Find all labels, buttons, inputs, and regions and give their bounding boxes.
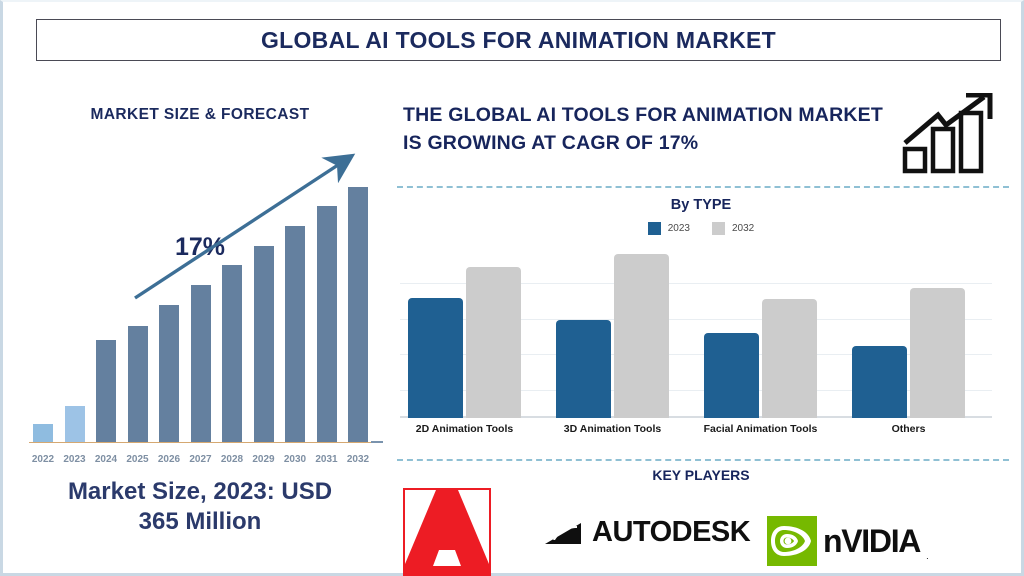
market-size-year-2024: 2024 <box>91 454 121 465</box>
market-size-footer-line1: Market Size, 2023: USD <box>9 477 391 507</box>
market-size-bar-2029 <box>254 246 274 442</box>
market-size-year-labels: 2022202320242025202620272028202920302031… <box>23 454 383 470</box>
cagr-headline: THE GLOBAL AI TOOLS FOR ANIMATION MARKET… <box>403 102 895 157</box>
market-size-year-2028: 2028 <box>217 454 247 465</box>
divider-top <box>397 186 1009 188</box>
market-size-bar-2028 <box>222 265 242 442</box>
legend-item-2032: 2032 <box>712 222 754 235</box>
bytype-label-3d-animation-tools: 3D Animation Tools <box>544 423 681 435</box>
bytype-label-2d-animation-tools: 2D Animation Tools <box>396 423 533 435</box>
market-size-year-2032: 2032 <box>343 454 373 465</box>
market-size-footer-line2: 365 Million <box>9 507 391 537</box>
legend-item-2023: 2023 <box>648 222 690 235</box>
bytype-bar-2023-3d-animation-tools <box>556 320 611 418</box>
bytype-bar-2032-others <box>910 288 965 418</box>
bytype-bar-2023-others <box>852 346 907 418</box>
bytype-bar-2032-2d-animation-tools <box>466 267 521 418</box>
market-size-year-2030: 2030 <box>280 454 310 465</box>
market-size-bar-2031 <box>317 206 337 442</box>
market-size-bars <box>23 152 383 442</box>
autodesk-logo: AUTODESK <box>543 516 750 549</box>
bytype-legend: 2023 2032 <box>395 222 1007 235</box>
market-size-bar-2022 <box>33 424 53 442</box>
cagr-annotation: 17% <box>175 233 225 262</box>
legend-label-2023: 2023 <box>668 223 690 234</box>
market-size-bar-2023 <box>65 406 85 442</box>
market-size-bar-2026 <box>159 305 179 442</box>
nvidia-logo: nVIDIA . <box>767 516 929 566</box>
market-size-year-2025: 2025 <box>123 454 153 465</box>
right-panel: THE GLOBAL AI TOOLS FOR ANIMATION MARKET… <box>395 90 1021 576</box>
key-players-logos: AUTODESK nVIDIA . <box>395 488 1007 576</box>
bytype-bar-2023-2d-animation-tools <box>408 298 463 418</box>
market-size-bar-2030 <box>285 226 305 442</box>
page-title: GLOBAL AI TOOLS FOR ANIMATION MARKET <box>261 27 776 54</box>
bytype-label-others: Others <box>840 423 977 435</box>
nvidia-registered-mark: . <box>926 551 929 566</box>
market-size-bar-2032 <box>348 187 368 442</box>
market-size-year-2027: 2027 <box>186 454 216 465</box>
bytype-bar-2032-3d-animation-tools <box>614 254 669 418</box>
market-size-bar-2027 <box>191 285 211 442</box>
nvidia-wordmark: nVIDIA <box>823 523 920 560</box>
bytype-category-labels: 2D Animation Tools3D Animation ToolsFaci… <box>400 423 992 441</box>
title-box: GLOBAL AI TOOLS FOR ANIMATION MARKET <box>36 19 1001 61</box>
nvidia-eye-icon <box>767 516 817 566</box>
bar-chart-growth-icon <box>900 93 1000 175</box>
divider-bottom <box>397 459 1009 461</box>
market-size-bar-2024 <box>96 340 116 442</box>
market-size-forecast-panel: MARKET SIZE & FORECAST 17% 2022202320242… <box>9 92 391 572</box>
market-size-chart: 17% <box>23 147 383 452</box>
market-size-year-2029: 2029 <box>249 454 279 465</box>
key-players-title: KEY PLAYERS <box>395 467 1007 483</box>
bytype-label-facial-animation-tools: Facial Animation Tools <box>692 423 829 435</box>
bytype-bar-2032-facial-animation-tools <box>762 299 817 418</box>
market-size-footer: Market Size, 2023: USD 365 Million <box>9 477 391 537</box>
autodesk-wordmark: AUTODESK <box>592 516 750 549</box>
market-size-year-2023: 2023 <box>60 454 90 465</box>
market-size-year-2026: 2026 <box>154 454 184 465</box>
market-size-axis-line <box>29 442 379 443</box>
legend-label-2032: 2032 <box>732 223 754 234</box>
market-size-heading: MARKET SIZE & FORECAST <box>9 106 391 124</box>
adobe-logo <box>403 488 491 576</box>
market-size-axis-dash <box>371 441 383 443</box>
autodesk-mark-icon <box>543 520 583 546</box>
market-size-year-2022: 2022 <box>28 454 58 465</box>
bytype-chart-plot <box>400 245 992 418</box>
market-size-bar-2025 <box>128 326 148 442</box>
legend-swatch-2023 <box>648 222 661 235</box>
infographic-page: GLOBAL AI TOOLS FOR ANIMATION MARKET MAR… <box>0 0 1024 576</box>
legend-swatch-2032 <box>712 222 725 235</box>
bytype-bar-2023-facial-animation-tools <box>704 333 759 418</box>
bytype-chart-title: By TYPE <box>395 197 1007 213</box>
market-size-year-2031: 2031 <box>312 454 342 465</box>
